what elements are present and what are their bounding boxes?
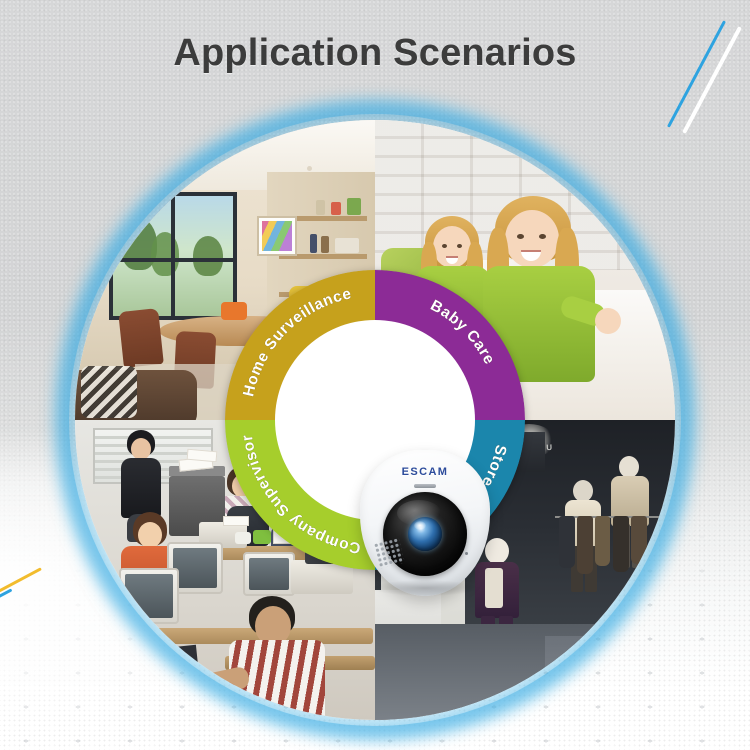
camera-lens xyxy=(408,517,442,551)
camera-lens-highlight xyxy=(414,521,426,530)
camera-sensor-slot xyxy=(414,484,436,488)
camera-brand-logo: ESCAM xyxy=(358,466,492,478)
camera-base-shadow xyxy=(372,580,478,596)
page-title: Application Scenarios xyxy=(0,32,750,75)
infographic-canvas: Application Scenarios xyxy=(0,0,750,750)
scenario-wheel: GUYS & YOU GUYS & YOU xyxy=(75,120,675,720)
escam-camera-device: ESCAM xyxy=(358,448,492,600)
camera-microphone-dot xyxy=(465,552,468,555)
